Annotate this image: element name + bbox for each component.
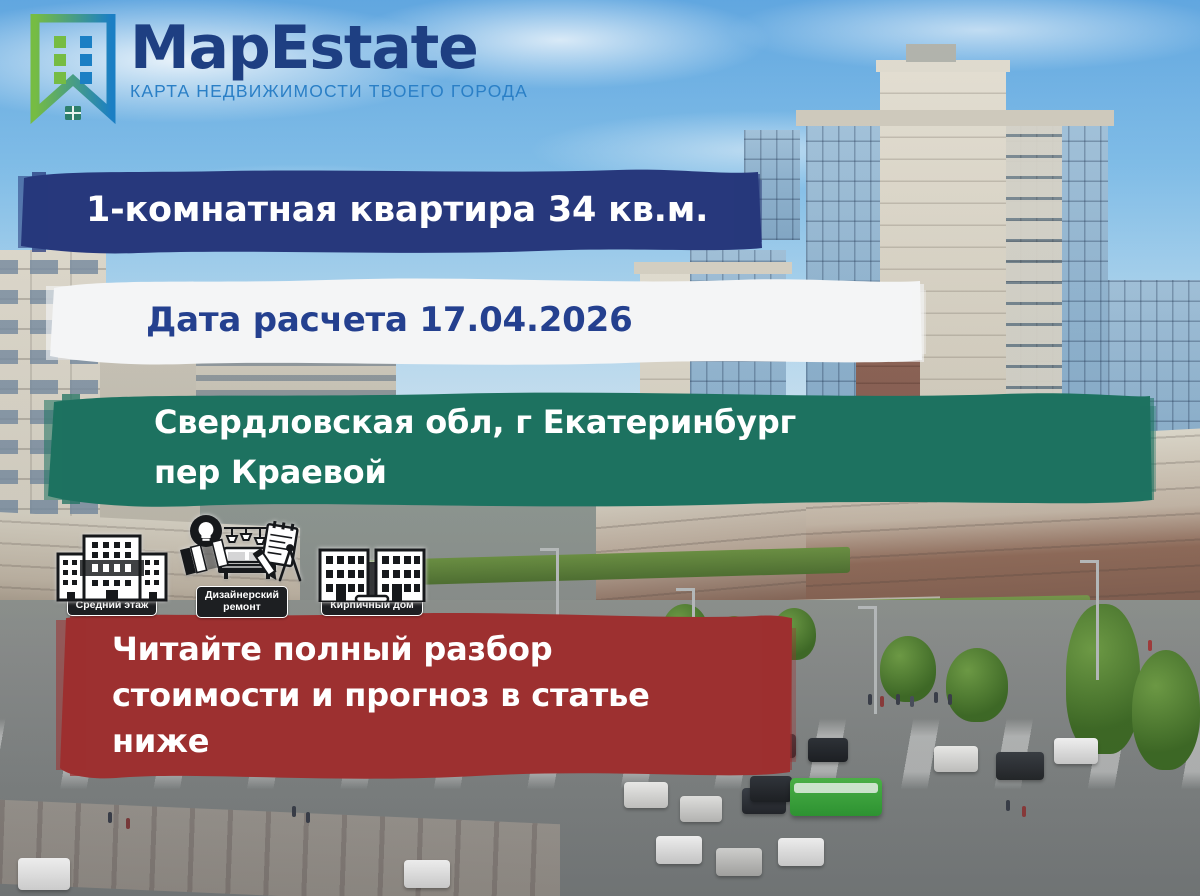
property-banner-text: 1-комнатная квартира 34 кв.м. <box>86 190 764 230</box>
cta-line-3: ниже <box>112 719 796 765</box>
cta-line-1: Читайте полный разбор <box>112 627 796 673</box>
badge-designer-renovation[interactable]: Дизайнерский ремонт <box>176 514 308 618</box>
badge-middle-floor[interactable]: Средний этаж <box>56 530 168 616</box>
cta-banner: Читайте полный разбор стоимости и прогно… <box>56 608 796 784</box>
promo-poster: MapEstate КАРТА НЕДВИЖИМОСТИ ТВОЕГО ГОРО… <box>0 0 1200 896</box>
address-banner: Свердловская обл, г Екатеринбург пер Кра… <box>44 384 1156 512</box>
brick-building-icon <box>316 532 428 602</box>
address-line-2: пер Краевой <box>154 448 1156 498</box>
feature-badges: Средний этаж <box>56 514 428 616</box>
badge-brick-house[interactable]: Кирпичный дом <box>316 532 428 616</box>
date-banner-text: Дата расчета 17.04.2026 <box>146 300 926 340</box>
bookmark-building-icon <box>30 14 116 126</box>
brand-logo[interactable]: MapEstate КАРТА НЕДВИЖИМОСТИ ТВОЕГО ГОРО… <box>30 14 528 126</box>
property-banner: 1-комнатная квартира 34 кв.м. <box>18 164 764 256</box>
brand-tagline: КАРТА НЕДВИЖИМОСТИ ТВОЕГО ГОРОДА <box>130 81 528 102</box>
cta-line-2: стоимости и прогноз в статье <box>112 673 796 719</box>
apartment-building-icon <box>56 530 168 602</box>
date-banner: Дата расчета 17.04.2026 <box>46 272 926 368</box>
brand-title: MapEstate <box>130 20 528 77</box>
address-line-1: Свердловская обл, г Екатеринбург <box>154 398 1156 448</box>
interior-design-icon <box>176 514 308 592</box>
